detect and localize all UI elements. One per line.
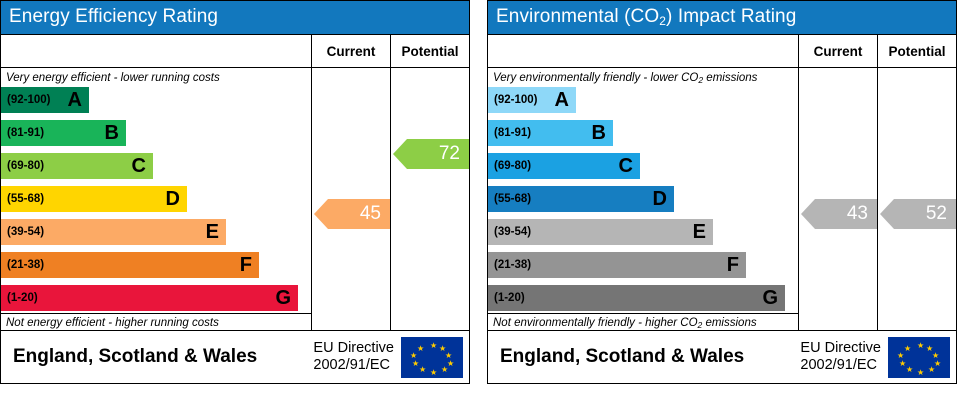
co2-chart-header-row: Current Potential (488, 34, 956, 68)
table-row: (55-68) D (1, 186, 311, 212)
band-b-range: (81-91) (494, 127, 531, 139)
footer-directive: EU Directive 2002/91/EC (313, 340, 401, 373)
header-current: Current (312, 35, 391, 67)
band-g-letter: G (275, 288, 291, 308)
table-row: (69-80) C (1, 153, 311, 179)
energy-chart-title: Energy Efficiency Rating (1, 1, 469, 34)
band-a: (92-100) A (1, 87, 89, 113)
header-spacer (488, 35, 799, 67)
co2-band-column: Very environmentally friendly - lower CO… (488, 68, 799, 330)
band-f-letter: F (727, 255, 739, 275)
band-b-letter: B (105, 123, 119, 143)
band-b-range: (81-91) (7, 127, 44, 139)
table-row: (1-20) G (1, 285, 311, 311)
band-c-letter: C (619, 156, 633, 176)
energy-potential-value: 72 (439, 143, 460, 165)
footer-region-label: England, Scotland & Wales (1, 346, 313, 368)
band-d: (55-68) D (1, 186, 187, 212)
band-b-letter: B (592, 123, 606, 143)
footer-directive: EU Directive 2002/91/EC (800, 340, 888, 373)
footer-directive-line2: 2002/91/EC (800, 357, 881, 374)
band-a-letter: A (555, 90, 569, 110)
band-c-letter: C (132, 156, 146, 176)
co2-current-value: 43 (847, 203, 868, 225)
band-b: (81-91) B (1, 120, 126, 146)
band-d-range: (55-68) (7, 193, 44, 205)
environmental-impact-rating-chart: Environmental (CO2) Impact Rating Curren… (487, 0, 957, 384)
table-row: (81-91) B (488, 120, 798, 146)
co2-title-sub: 2 (659, 14, 666, 28)
co2-bottom-note-main: Not environmentally friendly - higher CO (493, 317, 698, 329)
band-f: (21-38) F (488, 252, 746, 278)
band-f-range: (21-38) (7, 259, 44, 271)
energy-current-column: 45 (312, 68, 391, 330)
header-potential: Potential (391, 35, 469, 67)
table-row: (81-91) B (1, 120, 311, 146)
band-c: (69-80) C (488, 153, 640, 179)
energy-band-list: (92-100) A (81-91) B (69-80) C (1, 85, 311, 313)
co2-top-note-tail: emissions (703, 72, 757, 84)
table-row: (92-100) A (1, 87, 311, 113)
table-row: (21-38) F (1, 252, 311, 278)
band-d-range: (55-68) (494, 193, 531, 205)
energy-efficiency-rating-chart: Energy Efficiency Rating Current Potenti… (0, 0, 470, 384)
co2-title-main: Environmental (CO (496, 6, 659, 27)
band-a-letter: A (68, 90, 82, 110)
co2-title-tail: ) Impact Rating (666, 6, 796, 27)
energy-chart-body: Very energy efficient - lower running co… (1, 68, 469, 330)
table-row: (55-68) D (488, 186, 798, 212)
energy-bottom-note: Not energy efficient - higher running co… (1, 313, 311, 330)
eu-flag-icon: ★ ★ ★ ★ ★ ★ ★ ★ ★ ★ (401, 337, 463, 378)
energy-band-column: Very energy efficient - lower running co… (1, 68, 312, 330)
co2-top-note-main: Very environmentally friendly - lower CO (493, 72, 698, 84)
band-a-range: (92-100) (494, 94, 537, 106)
table-row: (39-54) E (1, 219, 311, 245)
band-e-range: (39-54) (494, 226, 531, 238)
band-c: (69-80) C (1, 153, 153, 179)
energy-chart-footer: England, Scotland & Wales EU Directive 2… (1, 330, 469, 383)
band-e: (39-54) E (488, 219, 713, 245)
energy-current-arrow: 45 (328, 199, 390, 229)
co2-top-note: Very environmentally friendly - lower CO… (488, 68, 798, 85)
band-d-letter: D (653, 189, 667, 209)
co2-chart-body: Very environmentally friendly - lower CO… (488, 68, 956, 330)
table-row: (69-80) C (488, 153, 798, 179)
co2-bottom-note: Not environmentally friendly - higher CO… (488, 313, 798, 330)
band-f: (21-38) F (1, 252, 259, 278)
energy-potential-arrow: 72 (407, 139, 469, 169)
co2-top-note-sub: 2 (698, 75, 703, 85)
header-potential: Potential (878, 35, 956, 67)
energy-top-note: Very energy efficient - lower running co… (1, 68, 311, 85)
band-e-letter: E (206, 222, 219, 242)
co2-bottom-note-tail: emissions (702, 317, 756, 329)
co2-chart-title: Environmental (CO2) Impact Rating (488, 1, 956, 34)
band-e: (39-54) E (1, 219, 226, 245)
header-spacer (1, 35, 312, 67)
table-row: (21-38) F (488, 252, 798, 278)
band-d: (55-68) D (488, 186, 674, 212)
co2-potential-arrow: 52 (894, 199, 956, 229)
co2-potential-value: 52 (926, 203, 947, 225)
footer-directive-line1: EU Directive (800, 340, 881, 357)
co2-current-column: 43 (799, 68, 878, 330)
co2-band-list: (92-100) A (81-91) B (69-80) C (488, 85, 798, 313)
band-g: (1-20) G (1, 285, 298, 311)
band-c-range: (69-80) (7, 160, 44, 172)
table-row: (1-20) G (488, 285, 798, 311)
table-row: (92-100) A (488, 87, 798, 113)
band-g: (1-20) G (488, 285, 785, 311)
band-a: (92-100) A (488, 87, 576, 113)
epc-charts-container: Energy Efficiency Rating Current Potenti… (0, 0, 957, 384)
band-a-range: (92-100) (7, 94, 50, 106)
table-row: (39-54) E (488, 219, 798, 245)
band-f-letter: F (240, 255, 252, 275)
band-e-letter: E (693, 222, 706, 242)
band-f-range: (21-38) (494, 259, 531, 271)
band-g-range: (1-20) (7, 292, 38, 304)
energy-potential-column: 72 (391, 68, 469, 330)
band-d-letter: D (166, 189, 180, 209)
footer-directive-line2: 2002/91/EC (313, 357, 394, 374)
co2-current-arrow: 43 (815, 199, 877, 229)
band-e-range: (39-54) (7, 226, 44, 238)
energy-chart-header-row: Current Potential (1, 34, 469, 68)
eu-flag-icon: ★ ★ ★ ★ ★ ★ ★ ★ ★ ★ (888, 337, 950, 378)
energy-current-value: 45 (360, 203, 381, 225)
footer-directive-line1: EU Directive (313, 340, 394, 357)
band-b: (81-91) B (488, 120, 613, 146)
band-g-range: (1-20) (494, 292, 525, 304)
band-c-range: (69-80) (494, 160, 531, 172)
band-g-letter: G (762, 288, 778, 308)
footer-region-label: England, Scotland & Wales (488, 346, 800, 368)
header-current: Current (799, 35, 878, 67)
co2-bottom-note-sub: 2 (698, 320, 703, 330)
co2-chart-footer: England, Scotland & Wales EU Directive 2… (488, 330, 956, 383)
co2-potential-column: 52 (878, 68, 956, 330)
